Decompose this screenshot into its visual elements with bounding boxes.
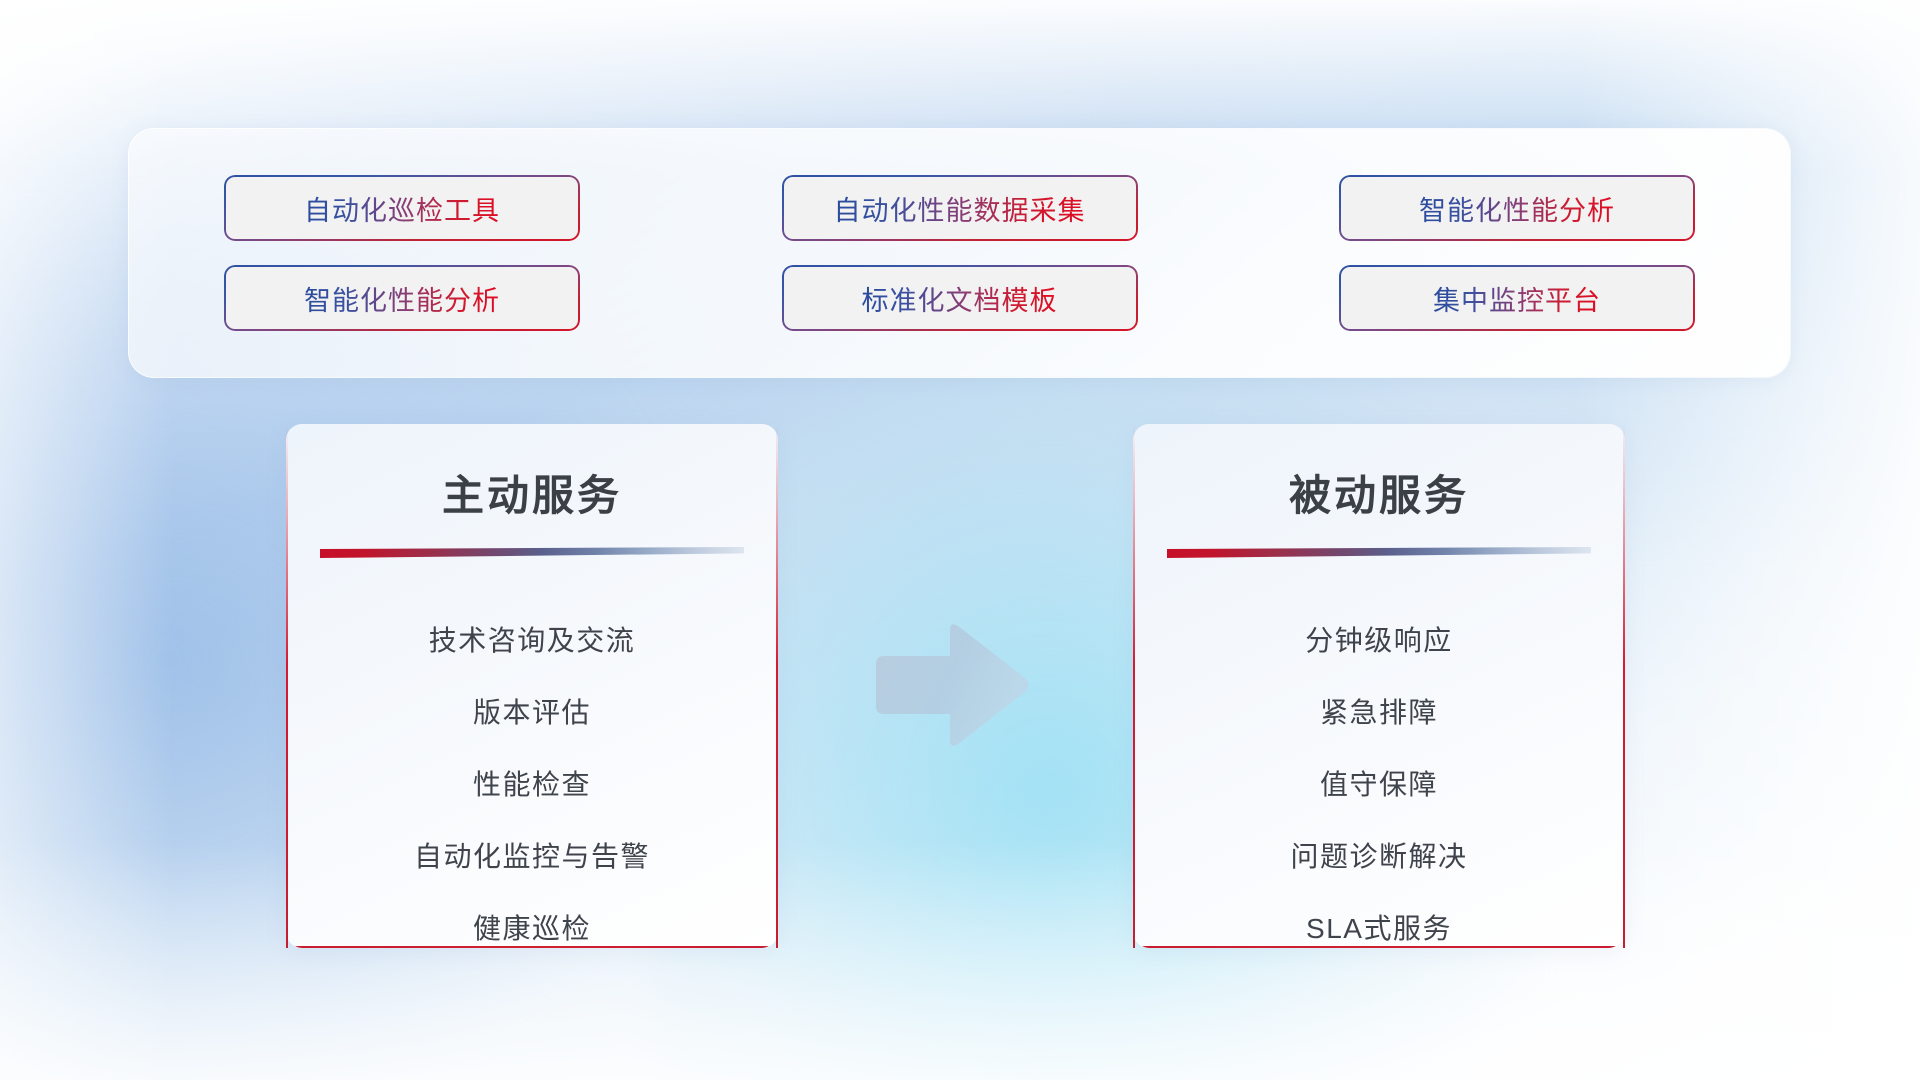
capability-tag-standard-doc-template[interactable]: 标准化文档模板	[782, 265, 1138, 331]
capability-tag-label: 智能化性能分析	[1419, 189, 1615, 228]
title-divider	[320, 545, 744, 559]
service-list-item: 自动化监控与告警	[414, 821, 650, 893]
service-list-item: 健康巡检	[473, 893, 591, 948]
capability-panel: 自动化巡检工具 自动化性能数据采集 智能化性能分析 智能化性能分析 标准化文档模…	[128, 128, 1791, 378]
title-divider-bar	[320, 547, 744, 558]
capability-tag-central-monitoring-platform[interactable]: 集中监控平台	[1339, 265, 1695, 331]
capability-tag-label: 自动化巡检工具	[304, 189, 500, 228]
capability-row-2: 智能化性能分析 标准化文档模板 集中监控平台	[224, 265, 1695, 331]
title-divider-bar	[1167, 547, 1591, 558]
service-card-reactive: 被动服务 分钟级响应 紧急排障 值守保障 问题诊断解决 SLA式服务	[1133, 424, 1625, 948]
flow-arrow-right	[872, 620, 1032, 750]
capability-tag-label: 智能化性能分析	[304, 279, 500, 318]
service-list-item: SLA式服务	[1306, 893, 1452, 948]
capability-tag-label: 集中监控平台	[1433, 279, 1601, 318]
service-item-list: 分钟级响应 紧急排障 值守保障 问题诊断解决 SLA式服务	[1135, 605, 1623, 948]
service-list-item: 版本评估	[473, 677, 591, 749]
service-card-title: 被动服务	[1135, 462, 1623, 523]
capability-tag-intelligent-perf-analysis-2[interactable]: 智能化性能分析	[224, 265, 580, 331]
service-card-title: 主动服务	[288, 462, 776, 523]
capability-tag-label: 标准化文档模板	[862, 279, 1058, 318]
service-list-item: 紧急排障	[1320, 677, 1438, 749]
capability-row-1: 自动化巡检工具 自动化性能数据采集 智能化性能分析	[224, 175, 1695, 241]
service-card-proactive: 主动服务 技术咨询及交流 版本评估 性能检查 自动化监控与告警 健康巡检	[286, 424, 778, 948]
service-list-item: 分钟级响应	[1305, 605, 1453, 677]
capability-tag-auto-inspection-tool[interactable]: 自动化巡检工具	[224, 175, 580, 241]
service-list-item: 值守保障	[1320, 749, 1438, 821]
capability-tag-auto-perf-data-collection[interactable]: 自动化性能数据采集	[782, 175, 1138, 241]
service-item-list: 技术咨询及交流 版本评估 性能检查 自动化监控与告警 健康巡检	[288, 605, 776, 948]
capability-tag-label: 自动化性能数据采集	[834, 189, 1086, 228]
title-divider	[1167, 545, 1591, 559]
service-list-item: 技术咨询及交流	[429, 605, 636, 677]
service-list-item: 性能检查	[473, 749, 591, 821]
capability-tag-intelligent-perf-analysis[interactable]: 智能化性能分析	[1339, 175, 1695, 241]
service-list-item: 问题诊断解决	[1290, 821, 1467, 893]
